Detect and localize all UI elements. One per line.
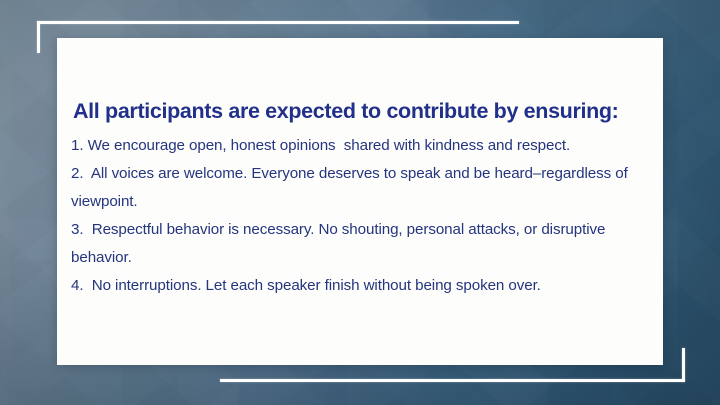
slide-title: All participants are expected to contrib… [73, 99, 618, 124]
rule-item-2: 2. All voices are welcome. Everyone dese… [71, 160, 655, 216]
slide-canvas: All participants are expected to contrib… [0, 0, 720, 405]
top-left-bracket-horizontal [37, 21, 519, 24]
bottom-right-bracket-vertical [682, 348, 685, 382]
rule-item-4: 4. No interruptions. Let each speaker fi… [71, 272, 655, 300]
rule-item-3: 3. Respectful behavior is necessary. No … [71, 216, 655, 272]
rule-item-1: 1. We encourage open, honest opinions sh… [71, 132, 655, 160]
bottom-right-bracket-horizontal [220, 379, 685, 382]
content-card: All participants are expected to contrib… [57, 38, 663, 365]
top-left-bracket-vertical [37, 21, 40, 53]
rules-list: 1. We encourage open, honest opinions sh… [71, 132, 655, 300]
